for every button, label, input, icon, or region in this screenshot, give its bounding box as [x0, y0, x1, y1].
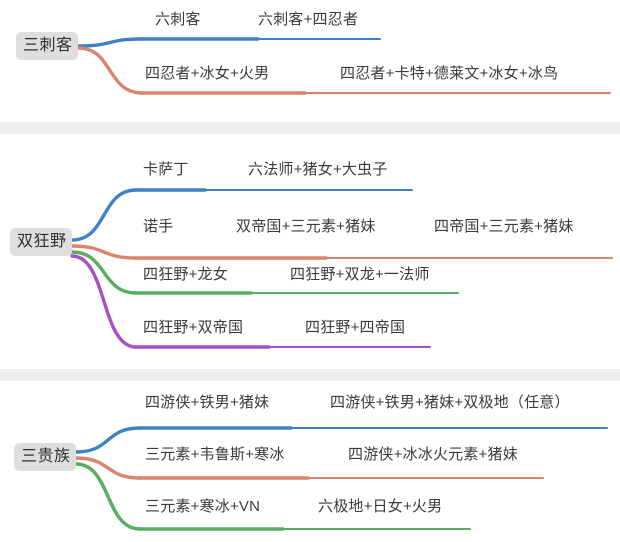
branch-label: 卡萨丁 [143, 162, 189, 177]
root-node-panel-three-nobles[interactable]: 三贵族 [14, 443, 76, 471]
branch-stem-salmon [78, 48, 142, 93]
branch-label: 四游侠+冰冰火元素+猪妹 [348, 447, 518, 462]
branch-label: 三元素+寒冰+VN [145, 499, 260, 514]
branch-label: 四帝国+三元素+猪妹 [434, 219, 574, 234]
branch-label: 四狂野+双帝国 [143, 320, 243, 335]
panel-three-nobles: 四游侠+铁男+猪妹四游侠+铁男+猪妹+双极地（任意）三元素+韦鲁斯+寒冰四游侠+… [0, 381, 620, 542]
branch-label: 四忍者+卡特+德莱文+冰女+冰鸟 [340, 66, 558, 81]
branch-stem-blue [78, 39, 142, 46]
branch-label: 四忍者+冰女+火男 [145, 66, 269, 81]
branch-label: 四狂野+龙女 [143, 267, 228, 282]
root-node-panel-double-wild[interactable]: 双狂野 [10, 228, 72, 256]
branch-stem-blue [76, 428, 140, 452]
branch-stem-blue [72, 190, 136, 240]
branch-label: 四狂野+双龙+一法师 [290, 267, 430, 282]
branch-label: 六极地+日女+火男 [318, 499, 442, 514]
branch-label: 六法师+猪女+大虫子 [248, 162, 388, 177]
panel-three-assassins: 六刺客六刺客+四忍者四忍者+冰女+火男四忍者+卡特+德莱文+冰女+冰鸟三刺客 [0, 0, 620, 122]
branch-label: 诺手 [143, 219, 173, 234]
panel-double-wild: 卡萨丁六法师+猪女+大虫子诺手双帝国+三元素+猪妹四帝国+三元素+猪妹四狂野+龙… [0, 134, 620, 369]
branch-label: 六刺客 [155, 12, 201, 27]
branch-label: 四游侠+铁男+猪妹 [145, 395, 269, 410]
root-node-panel-three-assassins[interactable]: 三刺客 [16, 32, 78, 60]
branch-stem-salmon [76, 458, 140, 478]
branch-label: 双帝国+三元素+猪妹 [236, 219, 376, 234]
branch-label: 三元素+韦鲁斯+寒冰 [145, 447, 285, 462]
branch-label: 六刺客+四忍者 [258, 12, 358, 27]
branch-stem-green [76, 464, 140, 529]
mindmap-page: 六刺客六刺客+四忍者四忍者+冰女+火男四忍者+卡特+德莱文+冰女+冰鸟三刺客卡萨… [0, 0, 620, 542]
branch-label: 四游侠+铁男+猪妹+双极地（任意） [330, 395, 570, 410]
branch-label: 四狂野+四帝国 [305, 320, 405, 335]
